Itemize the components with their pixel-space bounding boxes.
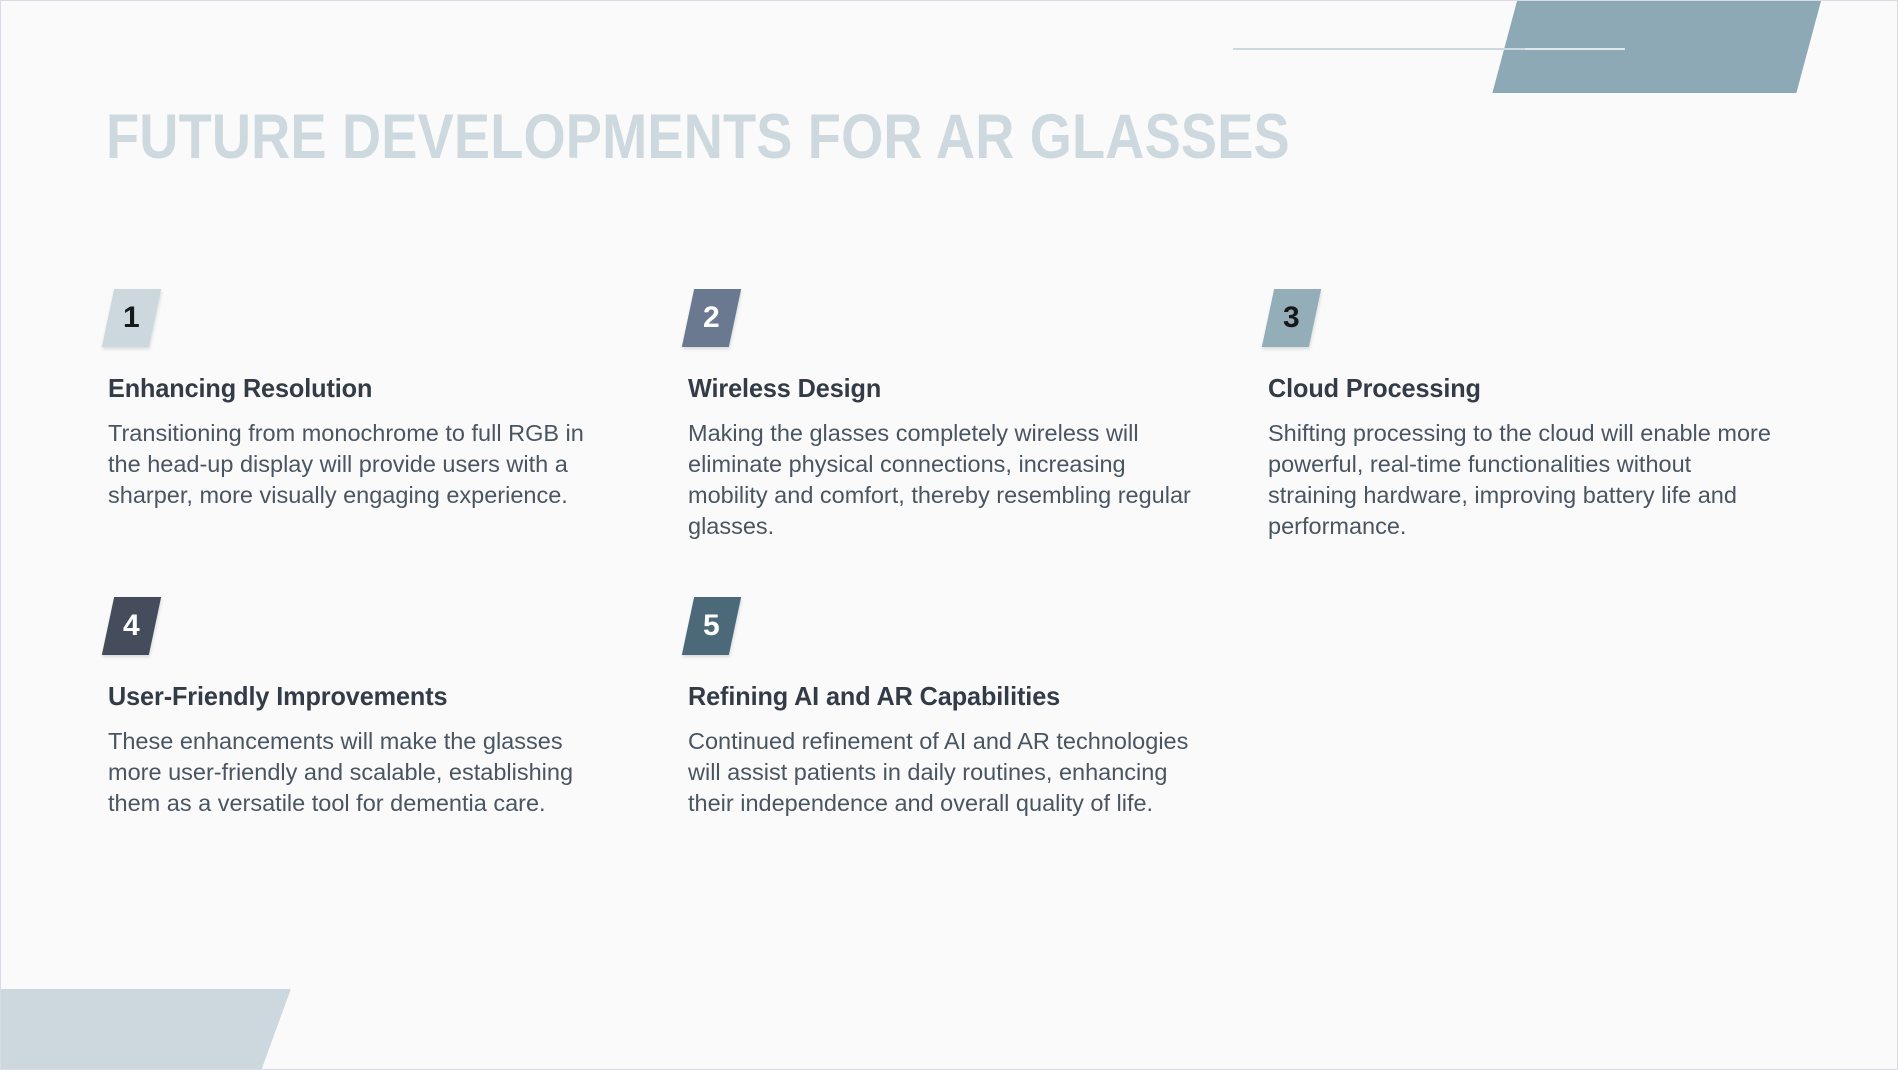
item-body-text: Transitioning from monochrome to full RG…	[108, 418, 613, 511]
item-body-text: These enhancements will make the glasses…	[108, 726, 613, 819]
item-number-label: 1	[123, 303, 140, 333]
item-number-label: 3	[1283, 303, 1300, 333]
top-right-parallelogram-decoration	[1492, 1, 1821, 93]
item-number-badge: 3	[1262, 289, 1321, 347]
items-grid: 1Enhancing ResolutionTransitioning from …	[108, 289, 1828, 819]
item-title: Wireless Design	[688, 373, 1183, 404]
list-item: 3Cloud ProcessingShifting processing to …	[1268, 289, 1778, 542]
item-number-badge: 5	[682, 597, 741, 655]
list-item: 5Refining AI and AR CapabilitiesContinue…	[688, 597, 1198, 819]
horizontal-rule-overlap-decoration	[1525, 48, 1625, 50]
item-number-label: 4	[123, 611, 140, 641]
item-title: Enhancing Resolution	[108, 373, 603, 404]
item-number-badge: 1	[102, 289, 161, 347]
item-body-text: Making the glasses completely wireless w…	[688, 418, 1193, 542]
item-number-badge: 2	[682, 289, 741, 347]
horizontal-rule-decoration	[1233, 48, 1623, 50]
item-number-label: 2	[703, 303, 720, 333]
slide-canvas: FUTURE DEVELOPMENTS FOR AR GLASSES 1Enha…	[0, 0, 1898, 1070]
page-title: FUTURE DEVELOPMENTS FOR AR GLASSES	[106, 106, 1290, 169]
item-title: User-Friendly Improvements	[108, 681, 603, 712]
list-item: 2Wireless DesignMaking the glasses compl…	[688, 289, 1198, 542]
list-item: 4User-Friendly ImprovementsThese enhance…	[108, 597, 618, 819]
list-item: 1Enhancing ResolutionTransitioning from …	[108, 289, 618, 542]
item-body-text: Continued refinement of AI and AR techno…	[688, 726, 1193, 819]
item-number-label: 5	[703, 611, 720, 641]
item-body-text: Shifting processing to the cloud will en…	[1268, 418, 1773, 542]
bottom-left-parallelogram-decoration	[0, 989, 291, 1070]
item-title: Refining AI and AR Capabilities	[688, 681, 1183, 712]
item-title: Cloud Processing	[1268, 373, 1763, 404]
item-number-badge: 4	[102, 597, 161, 655]
